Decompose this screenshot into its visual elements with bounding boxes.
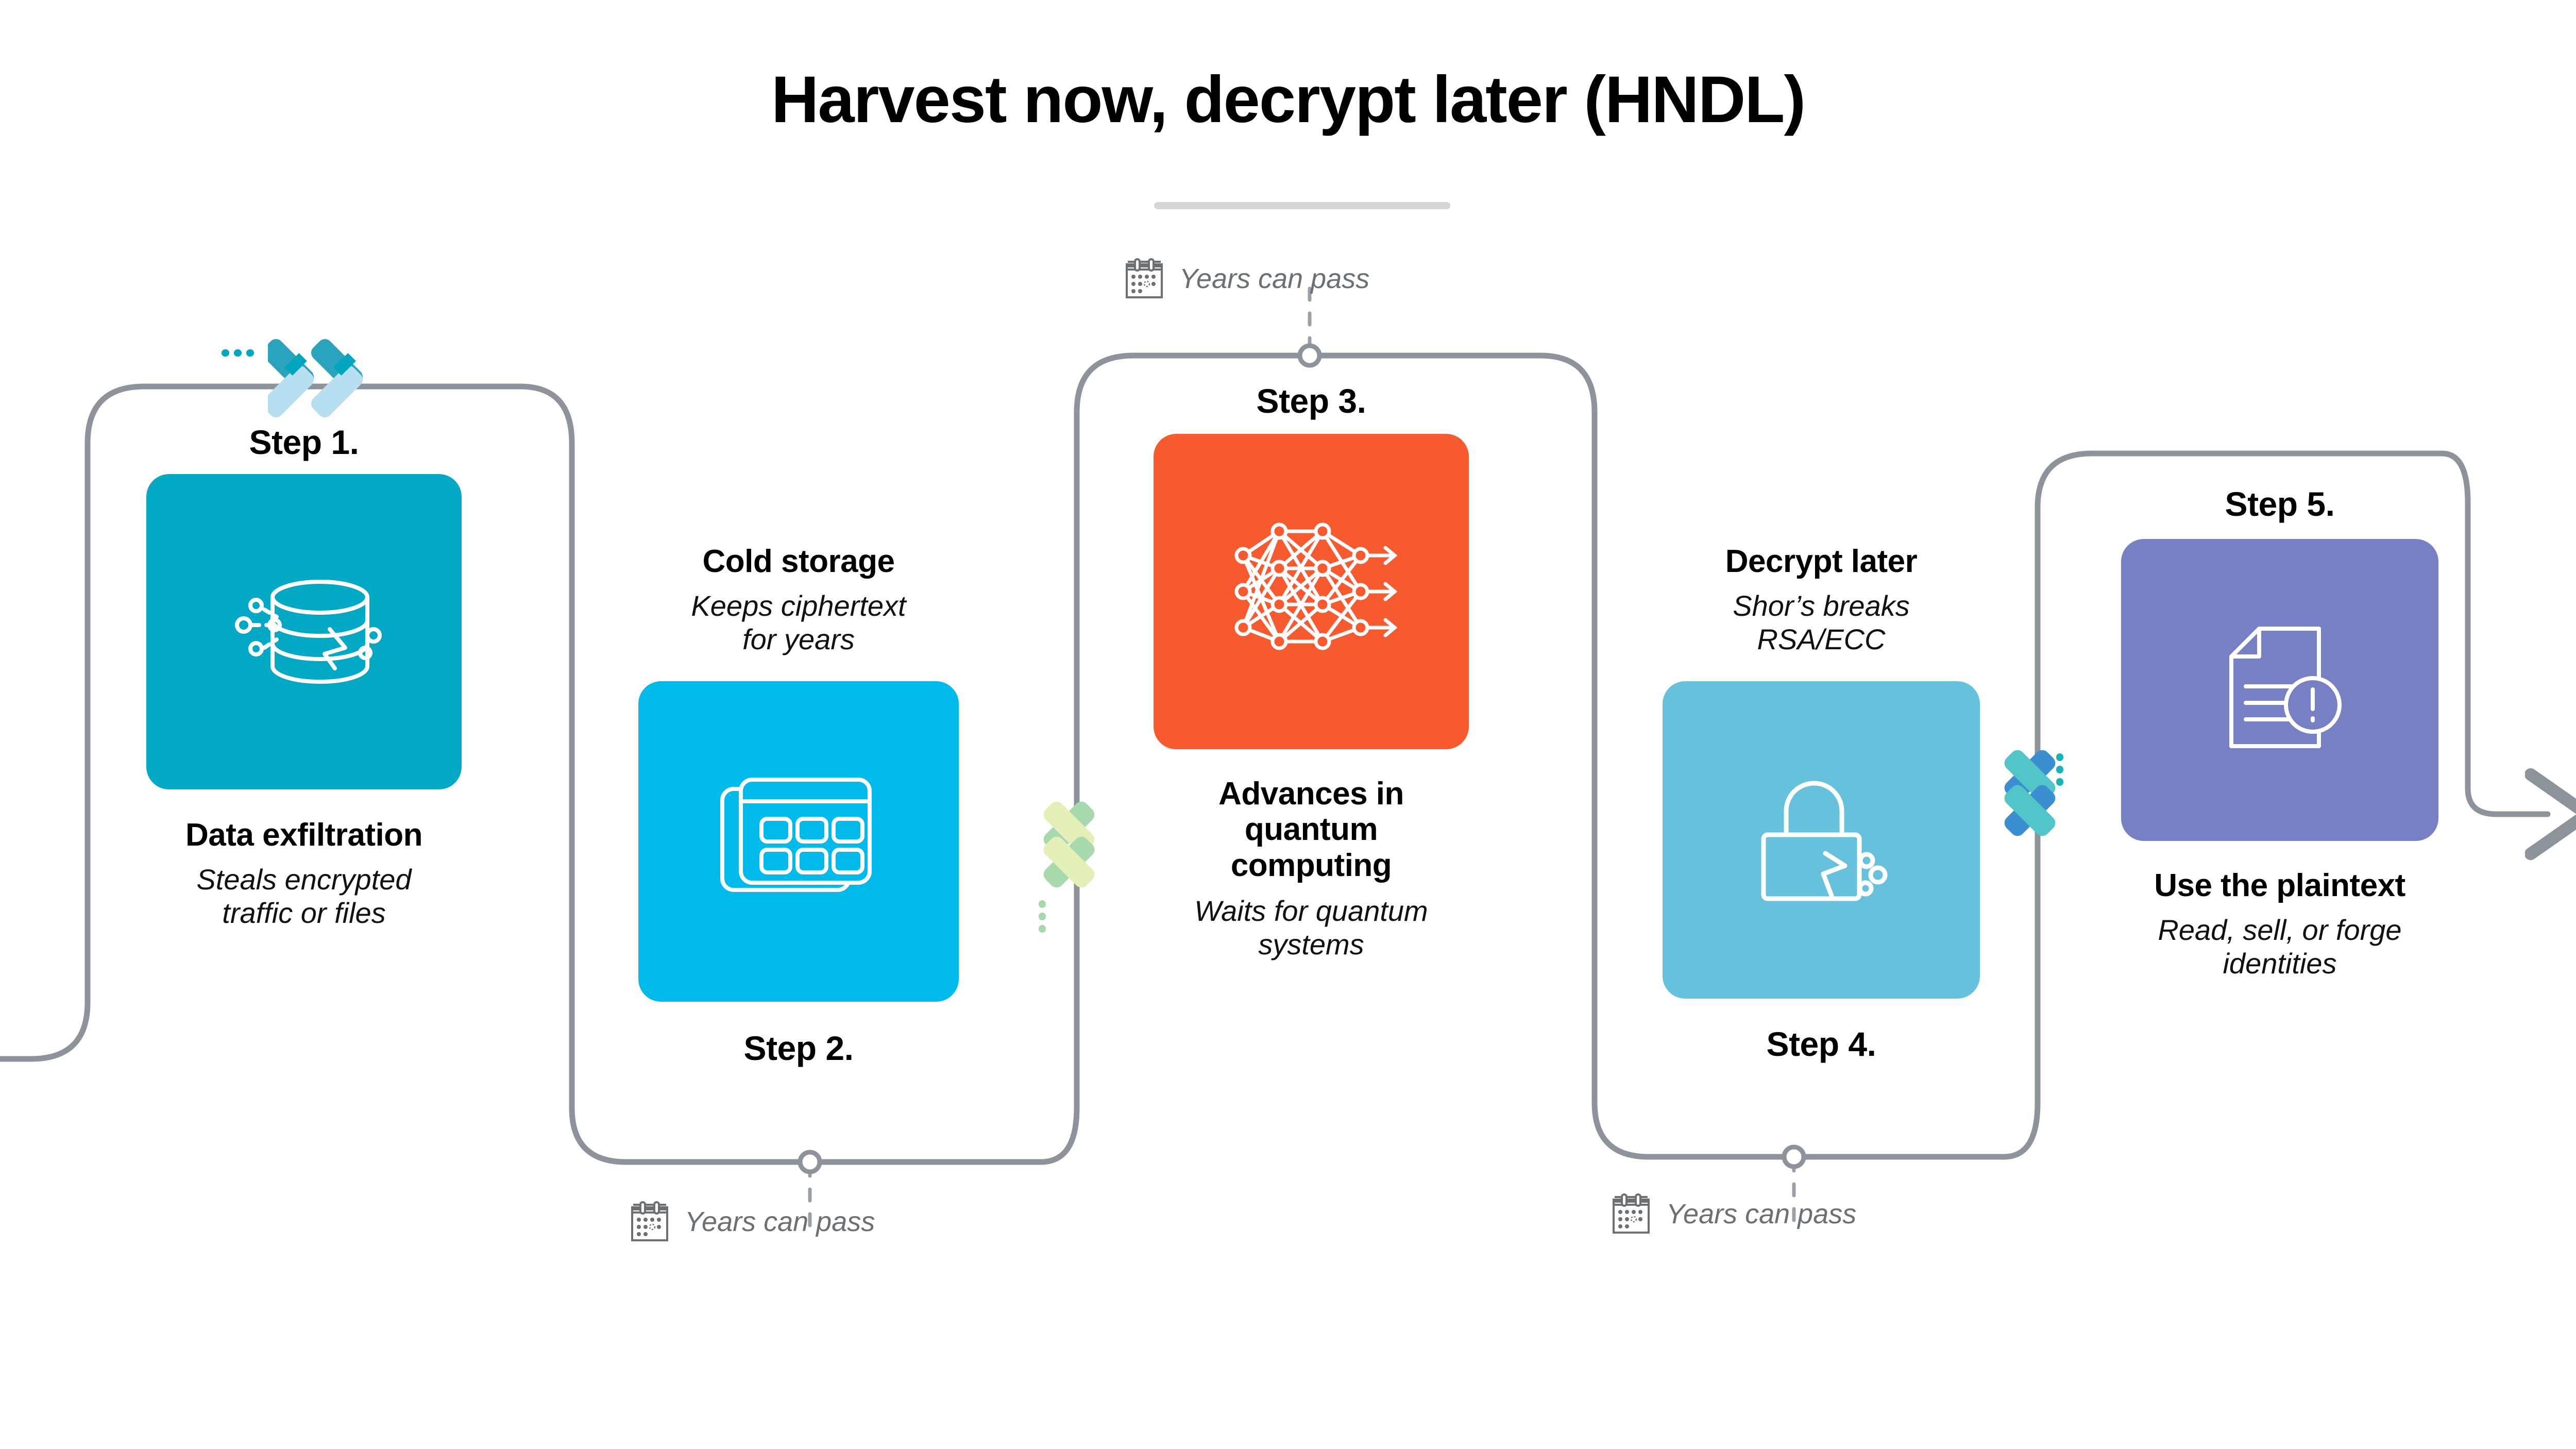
step-3-number: Step 3. [1090, 381, 1533, 420]
neural-network-icon [1213, 507, 1409, 677]
annotation-years-can-pass-top: Years can pass [1121, 255, 1369, 302]
step-1-number: Step 1. [93, 423, 515, 462]
step-1-subtitle-line2: traffic or files [93, 897, 515, 930]
calendar-icon [1607, 1190, 1655, 1238]
calendar-icon [1121, 255, 1168, 302]
step-2[interactable]: Cold storage Keeps ciphertext for years [574, 544, 1023, 1068]
step-4-number: Step 4. [1597, 1024, 2045, 1064]
step-2-number: Step 2. [574, 1029, 1023, 1068]
step-3-title-line3: computing [1090, 848, 1533, 883]
step-1[interactable]: Step 1. [93, 423, 515, 930]
annotation-years-can-pass-bottom-left: Years can pass [626, 1198, 875, 1245]
annotation-label-top: Years can pass [1179, 263, 1369, 295]
step-5-subtitle-line2: identities [2056, 947, 2504, 981]
step-5-tile [2121, 539, 2438, 841]
step-2-subtitle-line1: Keeps ciphertext [574, 589, 1023, 623]
annotation-label-bottom-left: Years can pass [685, 1206, 875, 1238]
annotation-label-bottom-right: Years can pass [1666, 1198, 1856, 1230]
step-1-title: Data exfiltration [93, 817, 515, 853]
double-chevron-right-icon [268, 330, 402, 423]
cracked-database-icon [219, 547, 389, 717]
step-5-number: Step 5. [2056, 484, 2504, 524]
step-4-tile [1663, 681, 1980, 999]
document-alert-icon [2202, 610, 2357, 770]
step-4-subtitle-line1: Shor’s breaks [1597, 589, 2045, 623]
step-1-subtitle-line1: Steals encrypted [93, 863, 515, 897]
step-4[interactable]: Decrypt later Shor’s breaks RSA/ECC Step… [1597, 544, 2045, 1064]
broken-padlock-icon [1739, 757, 1904, 922]
step-3-tile [1154, 434, 1469, 749]
diagram-canvas: Harvest now, decrypt later (HNDL) [0, 0, 2576, 1449]
step-2-title: Cold storage [574, 544, 1023, 579]
stacked-cards-grid-icon [711, 764, 886, 919]
step-3-subtitle-line1: Waits for quantum [1090, 895, 1533, 928]
annotation-years-can-pass-bottom-right: Years can pass [1607, 1190, 1856, 1238]
step-5-title: Use the plaintext [2056, 868, 2504, 903]
step-3-title-line2: quantum [1090, 812, 1533, 847]
step-5[interactable]: Step 5. Use the plaintext Read, sell, or… [2056, 484, 2504, 981]
step-2-subtitle-line2: for years [574, 623, 1023, 656]
three-dots-teal-icon [221, 346, 257, 360]
three-dots-green-icon [1036, 899, 1049, 935]
step-1-tile [146, 474, 462, 789]
step-3-title-line1: Advances in [1090, 776, 1533, 812]
step-2-tile [638, 681, 959, 1002]
step-4-title: Decrypt later [1597, 544, 2045, 579]
calendar-icon [626, 1198, 673, 1245]
step-5-subtitle-line1: Read, sell, or forge [2056, 914, 2504, 947]
step-4-subtitle-line2: RSA/ECC [1597, 623, 2045, 656]
step-3-subtitle-line2: systems [1090, 928, 1533, 962]
step-3[interactable]: Step 3. [1090, 381, 1533, 962]
